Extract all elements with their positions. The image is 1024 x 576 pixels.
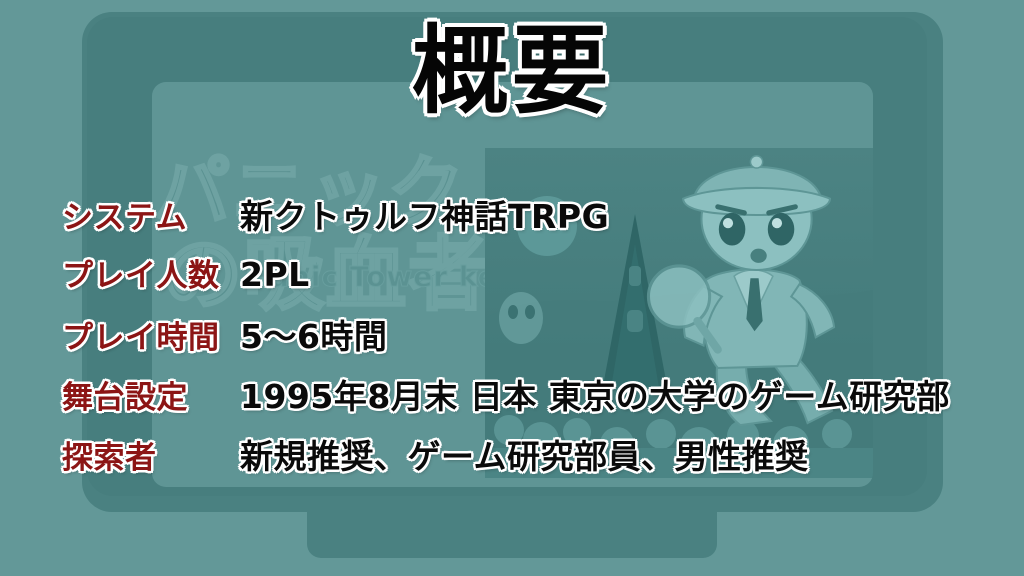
row-value-player-count: 2PL [240, 255, 310, 294]
row-label-investigator: 探索者 [62, 432, 240, 477]
table-row: 舞台設定 1995年8月末 日本 東京の大学のゲーム研究部 [62, 370, 1012, 430]
table-row: プレイ時間 5〜6時間 [62, 310, 1012, 370]
row-label-setting: 舞台設定 [62, 372, 240, 417]
row-value-setting: 1995年8月末 日本 東京の大学のゲーム研究部 [240, 370, 950, 418]
overview-info-table: システム 新クトゥルフ神話TRPG プレイ人数 2PL プレイ時間 5〜6時間 … [62, 190, 1012, 490]
row-value-play-time: 5〜6時間 [240, 310, 387, 358]
table-row: プレイ人数 2PL [62, 250, 1012, 310]
row-label-player-count: プレイ人数 [62, 250, 240, 295]
slide-root: パニック の吸血者 anic Tower ker [0, 0, 1024, 576]
row-label-system: システム [62, 192, 240, 237]
page-title: 概要 [0, 16, 1024, 126]
table-row: 探索者 新規推奨、ゲーム研究部員、男性推奨 [62, 430, 1012, 490]
row-label-play-time: プレイ時間 [62, 312, 240, 357]
row-value-investigator: 新規推奨、ゲーム研究部員、男性推奨 [240, 430, 809, 478]
table-row: システム 新クトゥルフ神話TRPG [62, 190, 1012, 250]
row-value-system: 新クトゥルフ神話TRPG [240, 190, 609, 238]
